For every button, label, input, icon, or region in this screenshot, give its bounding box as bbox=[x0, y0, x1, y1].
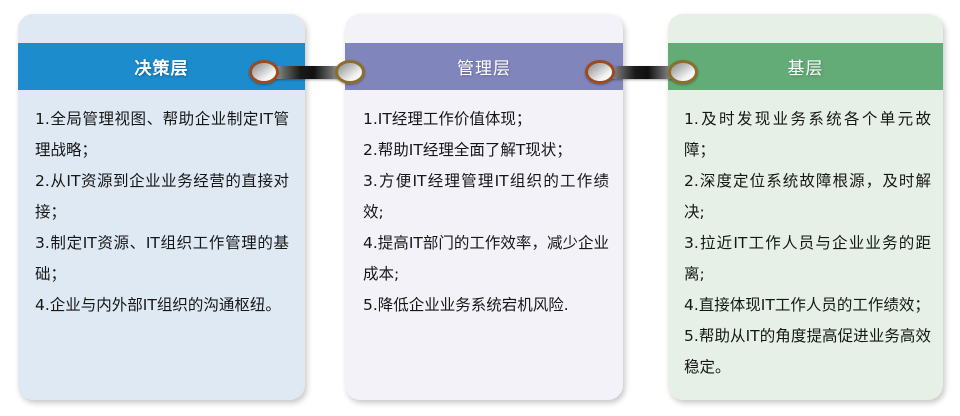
card-body-management-layer: 1.IT经理工作价值体现； 2.帮助IT经理全面了解T现状； 3.方便IT经理管… bbox=[345, 90, 623, 400]
bullet-list-management-layer: 1.IT经理工作价值体现； 2.帮助IT经理全面了解T现状； 3.方便IT经理管… bbox=[363, 104, 609, 321]
list-item: 4.直接体现IT工作人员的工作绩效； bbox=[684, 290, 931, 321]
list-item: 4.企业与内外部IT组织的沟通枢纽。 bbox=[35, 290, 289, 321]
card-body-decision-layer: 1.全局管理视图、帮助企业制定IT管理战略； 2.从IT资源到企业业务经营的直接… bbox=[18, 90, 305, 400]
list-item: 3.制定IT资源、IT组织工作管理的基础； bbox=[35, 228, 289, 290]
list-item: 2.帮助IT经理全面了解T现状； bbox=[363, 135, 609, 166]
card-title-management-layer: 管理层 bbox=[457, 54, 511, 79]
list-item: 1.及时发现业务系统各个单元故障； bbox=[684, 104, 931, 166]
list-item: 1.IT经理工作价值体现； bbox=[363, 104, 609, 135]
bullet-list-decision-layer: 1.全局管理视图、帮助企业制定IT管理战略； 2.从IT资源到企业业务经营的直接… bbox=[35, 104, 289, 321]
card-base-layer[interactable]: 基层 1.及时发现业务系统各个单元故障； 2.深度定位系统故障根源，及时解决; … bbox=[668, 14, 943, 400]
list-item: 3.方便IT经理管理IT组织的工作绩效; bbox=[363, 166, 609, 228]
card-title-base-layer: 基层 bbox=[788, 54, 824, 79]
list-item: 4.提高IT部门的工作效率，减少企业成本; bbox=[363, 228, 609, 290]
card-management-layer[interactable]: 管理层 1.IT经理工作价值体现； 2.帮助IT经理全面了解T现状； 3.方便I… bbox=[345, 14, 623, 400]
list-item: 5.帮助从IT的角度提高促进业务高效稳定。 bbox=[684, 321, 931, 383]
card-header-management-layer: 管理层 bbox=[345, 43, 623, 90]
card-header-base-layer: 基层 bbox=[668, 43, 943, 90]
list-item: 2.从IT资源到企业业务经营的直接对接； bbox=[35, 166, 289, 228]
list-item: 3.拉近IT工作人员与企业业务的距离; bbox=[684, 228, 931, 290]
card-header-decision-layer: 决策层 bbox=[18, 43, 305, 90]
card-decision-layer[interactable]: 决策层 1.全局管理视图、帮助企业制定IT管理战略； 2.从IT资源到企业业务经… bbox=[18, 14, 305, 400]
card-title-decision-layer: 决策层 bbox=[135, 54, 189, 79]
list-item: 1.全局管理视图、帮助企业制定IT管理战略； bbox=[35, 104, 289, 166]
bullet-list-base-layer: 1.及时发现业务系统各个单元故障； 2.深度定位系统故障根源，及时解决; 3.拉… bbox=[684, 104, 931, 383]
list-item: 2.深度定位系统故障根源，及时解决; bbox=[684, 166, 931, 228]
list-item: 5.降低企业业务系统宕机风险. bbox=[363, 290, 609, 321]
card-body-base-layer: 1.及时发现业务系统各个单元故障； 2.深度定位系统故障根源，及时解决; 3.拉… bbox=[668, 90, 943, 400]
diagram-board: 决策层 1.全局管理视图、帮助企业制定IT管理战略； 2.从IT资源到企业业务经… bbox=[0, 0, 960, 416]
